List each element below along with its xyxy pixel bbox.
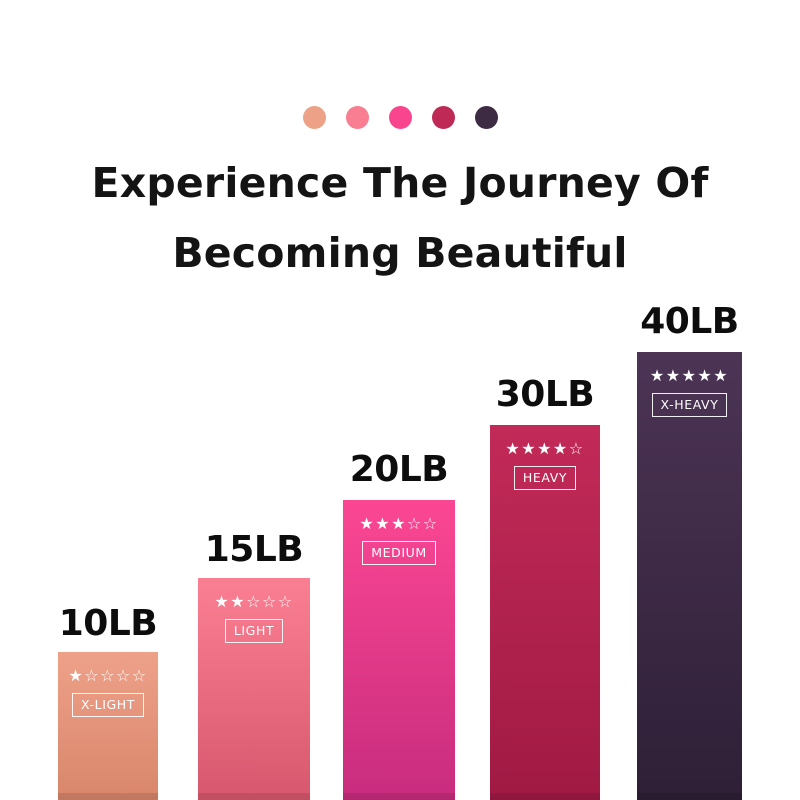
page-title: Experience The Journey Of Becoming Beaut… xyxy=(0,148,800,288)
dot-x-heavy-swatch xyxy=(475,106,498,129)
star-rating-icon: ★★☆☆☆ xyxy=(214,594,293,610)
bar-base-shadow xyxy=(637,793,742,800)
bar-weight-label: 30LB xyxy=(490,375,600,415)
bar-weight-label: 40LB xyxy=(637,302,742,342)
dot-heavy-swatch xyxy=(432,106,455,129)
bar-x-light[interactable]: ★☆☆☆☆X-LIGHT xyxy=(58,652,158,800)
bar-badge: ★★☆☆☆LIGHT xyxy=(198,594,310,643)
star-rating-icon: ★★★★☆ xyxy=(505,441,584,457)
resistance-band-bar-chart: 10LB★☆☆☆☆X-LIGHT15LB★★☆☆☆LIGHT20LB★★★☆☆M… xyxy=(0,290,800,800)
star-rating-icon: ★★★☆☆ xyxy=(359,516,438,532)
dot-x-light-swatch xyxy=(303,106,326,129)
bar-heavy[interactable]: ★★★★☆HEAVY xyxy=(490,425,600,800)
tier-label: HEAVY xyxy=(514,466,576,490)
bar-group-heavy[interactable]: 30LB★★★★☆HEAVY xyxy=(490,425,600,800)
dot-medium-swatch xyxy=(389,106,412,129)
bar-base-shadow xyxy=(198,793,310,800)
bar-group-x-heavy[interactable]: 40LB★★★★★X-HEAVY xyxy=(637,352,742,800)
bar-badge: ★★★★★X-HEAVY xyxy=(637,368,742,417)
bar-weight-label: 20LB xyxy=(343,450,455,490)
page-title-line-2: Becoming Beautiful xyxy=(0,218,800,288)
bar-weight-label: 10LB xyxy=(58,604,158,644)
tier-label: LIGHT xyxy=(225,619,283,643)
bar-group-x-light[interactable]: 10LB★☆☆☆☆X-LIGHT xyxy=(58,652,158,800)
bar-x-heavy[interactable]: ★★★★★X-HEAVY xyxy=(637,352,742,800)
tier-label: X-LIGHT xyxy=(72,693,144,717)
bar-base-shadow xyxy=(343,793,455,800)
star-rating-icon: ★☆☆☆☆ xyxy=(68,668,147,684)
page-title-line-1: Experience The Journey Of xyxy=(0,148,800,218)
bar-badge: ★★★★☆HEAVY xyxy=(490,441,600,490)
bar-weight-label: 15LB xyxy=(198,530,310,570)
tier-label: MEDIUM xyxy=(362,541,436,565)
tier-label: X-HEAVY xyxy=(652,393,728,417)
bar-group-medium[interactable]: 20LB★★★☆☆MEDIUM xyxy=(343,500,455,800)
bar-base-shadow xyxy=(58,793,158,800)
bar-group-light[interactable]: 15LB★★☆☆☆LIGHT xyxy=(198,578,310,800)
bar-badge: ★★★☆☆MEDIUM xyxy=(343,516,455,565)
bar-badge: ★☆☆☆☆X-LIGHT xyxy=(58,668,158,717)
star-rating-icon: ★★★★★ xyxy=(650,368,729,384)
color-swatch-row xyxy=(0,104,800,130)
dot-light-swatch xyxy=(346,106,369,129)
bar-light[interactable]: ★★☆☆☆LIGHT xyxy=(198,578,310,800)
bar-base-shadow xyxy=(490,793,600,800)
bar-medium[interactable]: ★★★☆☆MEDIUM xyxy=(343,500,455,800)
